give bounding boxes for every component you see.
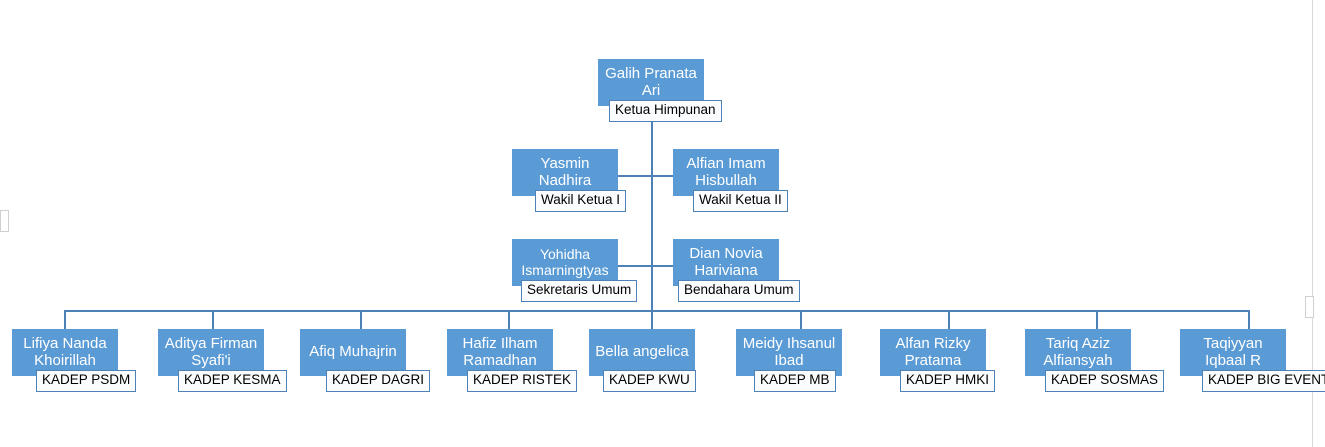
node-name-department-5: Bella angelica (589, 329, 695, 376)
node-department-9[interactable]: Taqiyyan Iqbaal R KADEP BIG EVENT (1180, 329, 1325, 394)
node-position-department-8: KADEP SOSMAS (1045, 370, 1164, 392)
node-position-ketua-himpunan: Ketua Himpunan (609, 100, 722, 122)
node-name-wakil-ketua-2: Alfian Imam Hisbullah (673, 149, 779, 196)
node-position-bendahara-umum: Bendahara Umum (678, 280, 800, 302)
connector-drop-2 (212, 310, 214, 330)
node-name-department-7: Alfan Rizky Pratama (880, 329, 986, 376)
right-margin-handle[interactable] (1305, 296, 1314, 318)
node-name-department-1: Lifiya Nanda Khoirillah (12, 329, 118, 376)
connector-department-bus (64, 310, 1249, 312)
node-position-department-3: KADEP DAGRI (326, 370, 430, 392)
node-name-bendahara-umum: Dian Novia Hariviana (673, 239, 779, 286)
node-department-6[interactable]: Meidy Ihsanul Ibad KADEP MB (736, 329, 901, 394)
node-wakil-ketua-1[interactable]: Yasmin Nadhira Wakil Ketua I (512, 149, 672, 214)
node-position-wakil-ketua-1: Wakil Ketua I (535, 190, 626, 212)
node-position-sekretaris-umum: Sekretaris Umum (521, 280, 637, 302)
node-name-wakil-ketua-1: Yasmin Nadhira (512, 149, 618, 196)
node-department-1[interactable]: Lifiya Nanda Khoirillah KADEP PSDM (12, 329, 172, 394)
node-department-8[interactable]: Tariq Aziz Alfiansyah KADEP SOSMAS (1025, 329, 1205, 394)
left-margin-handle[interactable] (0, 210, 9, 232)
connector-drop-9 (1248, 310, 1250, 330)
node-bendahara-umum[interactable]: Dian Novia Hariviana Bendahara Umum (673, 239, 848, 304)
node-name-department-6: Meidy Ihsanul Ibad (736, 329, 842, 376)
connector-drop-3 (360, 310, 362, 330)
node-name-department-4: Hafiz Ilham Ramadhan (447, 329, 553, 376)
connector-drop-6 (800, 310, 802, 330)
node-name-sekretaris-umum: Yohidha Ismarningtyas (512, 239, 618, 286)
node-name-department-3: Afiq Muhajrin (300, 329, 406, 376)
node-name-department-8: Tariq Aziz Alfiansyah (1025, 329, 1131, 376)
org-chart-canvas: Galih Pranata Ari Ketua Himpunan Yasmin … (0, 0, 1325, 447)
node-department-2[interactable]: Aditya Firman Syafi'i KADEP KESMA (158, 329, 323, 394)
node-position-department-1: KADEP PSDM (36, 370, 136, 392)
node-position-department-7: KADEP HMKI (900, 370, 995, 392)
node-wakil-ketua-2[interactable]: Alfian Imam Hisbullah Wakil Ketua II (673, 149, 848, 214)
node-position-wakil-ketua-2: Wakil Ketua II (693, 190, 788, 212)
node-position-department-6: KADEP MB (754, 370, 836, 392)
node-position-department-4: KADEP RISTEK (467, 370, 577, 392)
node-ketua-himpunan[interactable]: Galih Pranata Ari Ketua Himpunan (598, 59, 788, 124)
connector-drop-8 (1096, 310, 1098, 330)
node-department-3[interactable]: Afiq Muhajrin KADEP DAGRI (300, 329, 465, 394)
node-position-department-2: KADEP KESMA (178, 370, 287, 392)
node-position-department-5: KADEP KWU (603, 370, 696, 392)
node-department-7[interactable]: Alfan Rizky Pratama KADEP HMKI (880, 329, 1045, 394)
node-name-department-9: Taqiyyan Iqbaal R (1180, 329, 1286, 376)
node-sekretaris-umum[interactable]: Yohidha Ismarningtyas Sekretaris Umum (512, 239, 677, 304)
node-position-department-9: KADEP BIG EVENT (1202, 370, 1325, 392)
node-name-department-2: Aditya Firman Syafi'i (158, 329, 264, 376)
node-department-5[interactable]: Bella angelica KADEP KWU (589, 329, 754, 394)
connector-drop-4 (508, 310, 510, 330)
connector-drop-1 (64, 310, 66, 330)
connector-drop-7 (948, 310, 950, 330)
node-name-ketua-himpunan: Galih Pranata Ari (598, 59, 704, 106)
connector-drop-5 (651, 310, 653, 330)
